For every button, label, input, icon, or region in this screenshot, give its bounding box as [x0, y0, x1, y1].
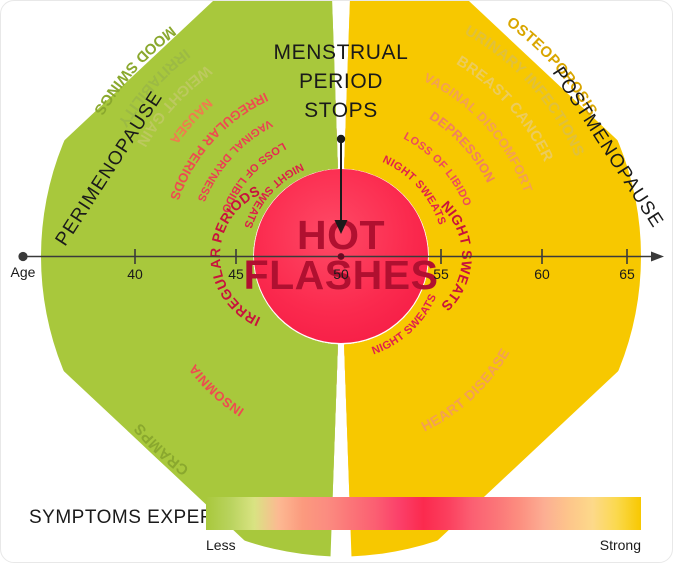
axis-tick-label-55: 55	[433, 266, 449, 282]
axis-tick-label-60: 60	[534, 266, 550, 282]
axis-start-dot	[18, 252, 27, 261]
legend-gradient-bar	[206, 497, 641, 530]
title-line-3: STOPS	[304, 99, 378, 122]
legend-low-label: Less	[206, 537, 236, 553]
menopause-timeline-chart: MOOD SWINGSIRRITABILITYWEIGHT GAINNAUSEA…	[1, 1, 673, 563]
legend: SYMPTOMS EXPERIENCE Less Strong	[29, 497, 641, 553]
axis-arrowhead	[651, 252, 664, 262]
infographic-page: MOOD SWINGSIRRITABILITYWEIGHT GAINNAUSEA…	[0, 0, 673, 563]
axis-tick-label-40: 40	[127, 266, 143, 282]
axis-age-label: Age	[11, 264, 36, 280]
axis-tick-label-45: 45	[228, 266, 244, 282]
title-line-2: PERIOD	[299, 70, 383, 93]
axis-tick-label-50: 50	[333, 266, 349, 282]
axis-center-dot	[338, 253, 345, 260]
legend-high-label: Strong	[600, 537, 641, 553]
title-line-1: MENSTRUAL	[274, 41, 409, 64]
axis-tick-label-65: 65	[619, 266, 635, 282]
